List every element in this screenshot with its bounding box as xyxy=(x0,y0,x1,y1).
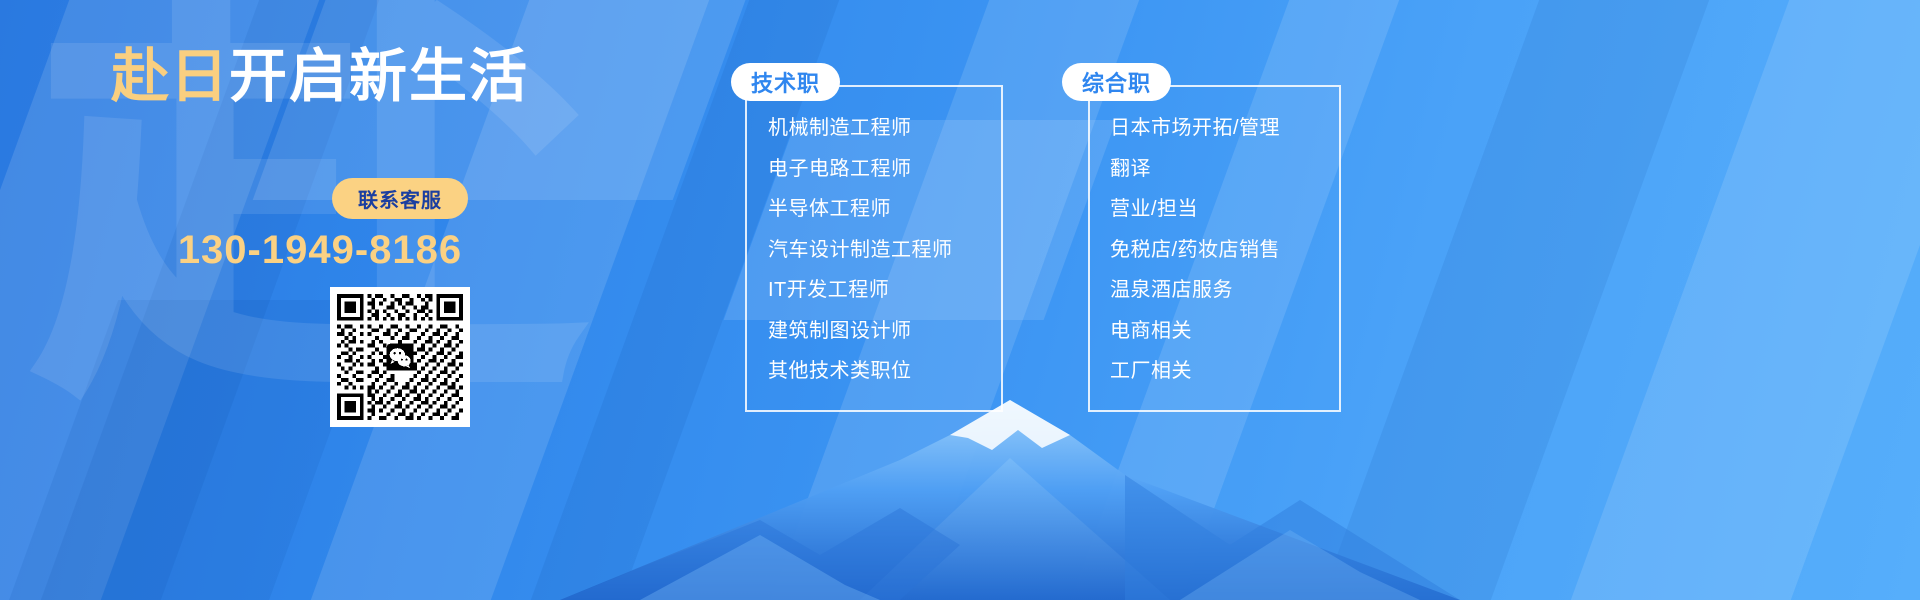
list-item[interactable]: 汽车设计制造工程师 xyxy=(768,240,953,260)
page-title: 赴日开启新生活 xyxy=(0,48,640,106)
phone-number[interactable]: 130-1949-8186 xyxy=(0,228,640,273)
promo-banner: 赴 赴日开启新生活 联系客服 130-1949-8186 xyxy=(0,0,1920,600)
list-item[interactable]: 电商相关 xyxy=(1110,321,1280,341)
tech-jobs-badge[interactable]: 技术职 xyxy=(731,63,840,101)
general-jobs-badge[interactable]: 综合职 xyxy=(1062,63,1171,101)
list-item[interactable]: 营业/担当 xyxy=(1110,199,1280,219)
list-item[interactable]: 翻译 xyxy=(1110,159,1280,179)
list-item[interactable]: 半导体工程师 xyxy=(768,199,953,219)
left-content: 赴日开启新生活 联系客服 130-1949-8186 xyxy=(0,0,700,600)
contact-support-button[interactable]: 联系客服 xyxy=(332,178,468,219)
wechat-qr-code-icon xyxy=(337,294,463,420)
qr-code-container[interactable] xyxy=(330,287,470,427)
list-item[interactable]: 其他技术类职位 xyxy=(768,361,953,381)
title-accent: 赴日 xyxy=(111,44,229,109)
list-item[interactable]: IT开发工程师 xyxy=(768,280,953,300)
list-item[interactable]: 工厂相关 xyxy=(1110,361,1280,381)
list-item[interactable]: 机械制造工程师 xyxy=(768,118,953,138)
list-item[interactable]: 温泉酒店服务 xyxy=(1110,280,1280,300)
list-item[interactable]: 日本市场开拓/管理 xyxy=(1110,118,1280,138)
general-jobs-list: 日本市场开拓/管理 翻译 营业/担当 免税店/药妆店销售 温泉酒店服务 电商相关… xyxy=(1110,118,1280,402)
title-plain: 开启新生活 xyxy=(229,44,529,109)
tech-jobs-list: 机械制造工程师 电子电路工程师 半导体工程师 汽车设计制造工程师 IT开发工程师… xyxy=(768,118,953,402)
list-item[interactable]: 免税店/药妆店销售 xyxy=(1110,240,1280,260)
list-item[interactable]: 电子电路工程师 xyxy=(768,159,953,179)
list-item[interactable]: 建筑制图设计师 xyxy=(768,321,953,341)
